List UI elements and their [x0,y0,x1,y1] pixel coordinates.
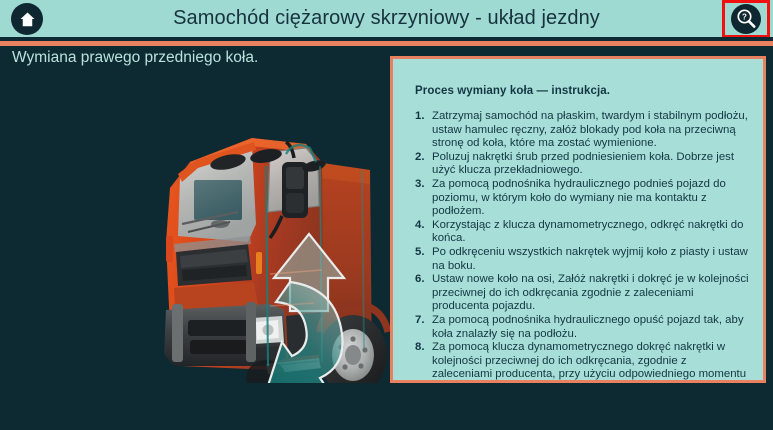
search-button-selection[interactable]: ? [722,0,770,38]
instruction-step: Ustaw nowe koło na osi, Załóż nakrętki i… [415,273,749,314]
search-button[interactable]: ? [731,4,761,34]
page-title: Samochód ciężarowy skrzyniowy - układ je… [0,0,773,37]
instruction-step: Po odkręceniu wszystkich nakrętek wyjmij… [415,246,749,273]
app-root: Samochód ciężarowy skrzyniowy - układ je… [0,0,773,430]
instruction-steps-list: Zatrzymaj samochód na płaskim, twardym i… [415,110,749,395]
instruction-step: Za pomocą podnośnika hydraulicznego podn… [415,178,749,219]
magnifier-question-icon: ? [734,7,758,31]
truck-illustration [70,66,390,396]
header-bar: Samochód ciężarowy skrzyniowy - układ je… [0,0,773,37]
panel-heading: Proces wymiany koła — instrukcja. [415,85,749,97]
instruction-step: Korzystając z klucza dynamometrycznego, … [415,219,749,246]
instruction-step: Poluzuj nakrętki śrub przed podniesienie… [415,151,749,178]
svg-text:?: ? [742,13,747,22]
instruction-panel: Proces wymiany koła — instrukcja. Zatrzy… [390,56,766,383]
instruction-step: Za pomocą podnośnika hydraulicznego opuś… [415,314,749,341]
illustration-stage [0,46,390,430]
home-icon [18,10,37,29]
home-button[interactable] [11,3,43,35]
footer-area [0,383,773,430]
instruction-step: Zatrzymaj samochód na płaskim, twardym i… [415,110,749,151]
